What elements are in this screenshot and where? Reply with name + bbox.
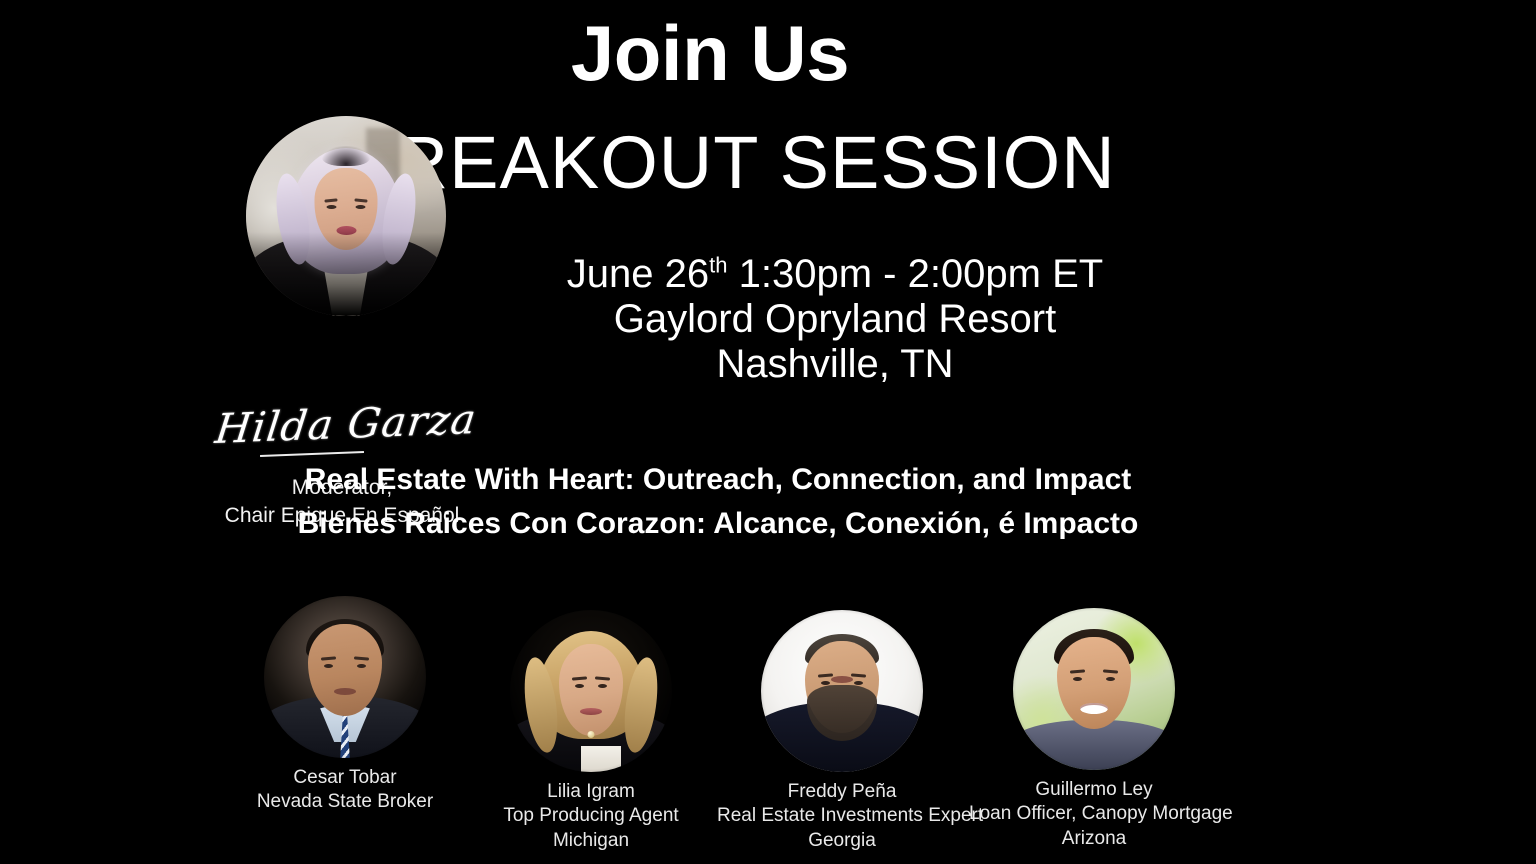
event-venue: Gaylord Opryland Resort	[400, 297, 1270, 342]
portrait-eyebrow-right	[1103, 670, 1118, 674]
portrait-pendant	[588, 731, 595, 738]
portrait-eye-right	[356, 205, 366, 209]
portrait-eye-left	[575, 684, 584, 688]
avatar	[264, 596, 426, 758]
portrait-eyebrow-right	[851, 673, 866, 677]
portrait-eyebrow-right	[354, 656, 369, 660]
panelist-location: Michigan	[466, 829, 716, 853]
portrait-eyebrow-left	[324, 198, 337, 202]
portrait-eye-left	[1073, 677, 1082, 681]
panelist-card: Cesar Tobar Nevada State Broker	[220, 596, 470, 815]
portrait-mouth	[831, 676, 853, 683]
portrait-eyebrow-right	[354, 198, 367, 202]
panelist-title: Top Producing Agent	[466, 804, 716, 828]
avatar	[761, 610, 923, 772]
panelist-card: Guillermo Ley Loan Officer, Canopy Mortg…	[969, 608, 1219, 851]
panelist-location: Arizona	[969, 827, 1219, 851]
avatar	[510, 610, 672, 772]
signature-underline-flourish	[260, 451, 364, 456]
event-time-range: 1:30pm - 2:00pm ET	[739, 252, 1104, 296]
portrait-eyebrow-right	[595, 676, 610, 680]
panelists-row: Cesar Tobar Nevada State Broker	[0, 596, 1536, 864]
panelist-name: Cesar Tobar	[220, 766, 470, 790]
portrait-hair-roots	[322, 146, 370, 166]
portrait-mouth	[334, 688, 356, 695]
portrait-eye-left	[327, 205, 337, 209]
event-details: June 26th 1:30pm - 2:00pm ET Gaylord Opr…	[400, 252, 1270, 386]
panelist-caption: Freddy Peña Real Estate Investments Expe…	[717, 780, 967, 853]
date-ordinal-suffix: th	[709, 253, 727, 278]
panelist-location: Georgia	[717, 829, 967, 853]
portrait-eye-left	[324, 664, 333, 668]
panelist-card: Freddy Peña Real Estate Investments Expe…	[717, 610, 967, 853]
portrait-eyebrow-left	[572, 676, 587, 680]
avatar	[1013, 608, 1175, 770]
panelist-name: Lilia Igram	[466, 780, 716, 804]
panelist-name: Freddy Peña	[717, 780, 967, 804]
session-title-spanish: Bienes Raices Con Corazon: Alcance, Cone…	[0, 502, 1436, 546]
event-date-time: June 26th 1:30pm - 2:00pm ET	[400, 252, 1270, 297]
panelist-card: Lilia Igram Top Producing Agent Michigan	[466, 610, 716, 853]
portrait-eyebrow-left	[1070, 670, 1085, 674]
avatar-alt-text: portrait-hilda-garza	[246, 316, 247, 317]
portrait-eyebrow-left	[818, 673, 833, 677]
portrait-inner-top	[581, 746, 621, 772]
moderator-portrait-wrap: portrait-hilda-garza	[246, 116, 446, 316]
portrait-lips	[336, 226, 356, 235]
event-date: June 26	[567, 252, 709, 296]
session-title-english: Real Estate With Heart: Outreach, Connec…	[0, 458, 1436, 502]
portrait-eyebrow-left	[321, 656, 336, 660]
session-title: Real Estate With Heart: Outreach, Connec…	[0, 458, 1436, 546]
eyebrow-title: Join Us	[0, 14, 1420, 92]
portrait-mouth	[1080, 703, 1108, 714]
moderator-block: portrait-hilda-garza Hilda Garza Moderat…	[186, 116, 506, 316]
panelist-title: Real Estate Investments Expert	[717, 804, 967, 828]
panelist-name: Guillermo Ley	[969, 778, 1219, 802]
event-city-state: Nashville, TN	[400, 342, 1270, 387]
panelist-caption: Cesar Tobar Nevada State Broker	[220, 766, 470, 815]
moderator-signature: Hilda Garza	[182, 394, 509, 454]
portrait-mouth	[580, 708, 602, 715]
panelist-title: Loan Officer, Canopy Mortgage	[969, 802, 1219, 826]
portrait-eye-right	[598, 684, 607, 688]
portrait-eye-right	[1106, 677, 1115, 681]
portrait-eye-right	[357, 664, 366, 668]
avatar	[246, 116, 446, 316]
panelist-caption: Guillermo Ley Loan Officer, Canopy Mortg…	[969, 778, 1219, 851]
flyer-canvas: Join Us BREAKOUT SESSION June 26th 1:30p…	[0, 0, 1536, 864]
panelist-title: Nevada State Broker	[220, 790, 470, 814]
panelist-caption: Lilia Igram Top Producing Agent Michigan	[466, 780, 716, 853]
